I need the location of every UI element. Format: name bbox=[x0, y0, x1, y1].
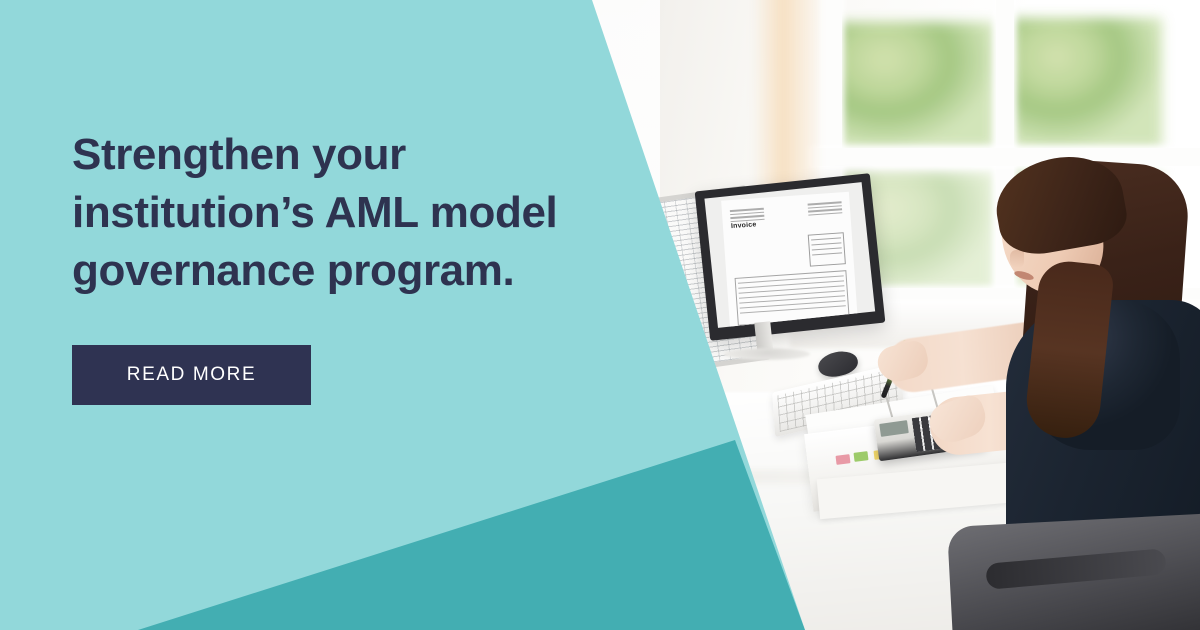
headline: Strengthen your institution’s AML model … bbox=[72, 126, 632, 300]
promo-banner: Invoice bbox=[0, 0, 1200, 630]
read-more-button[interactable]: READ MORE bbox=[72, 345, 311, 405]
banner-content: Strengthen your institution’s AML model … bbox=[72, 0, 632, 630]
